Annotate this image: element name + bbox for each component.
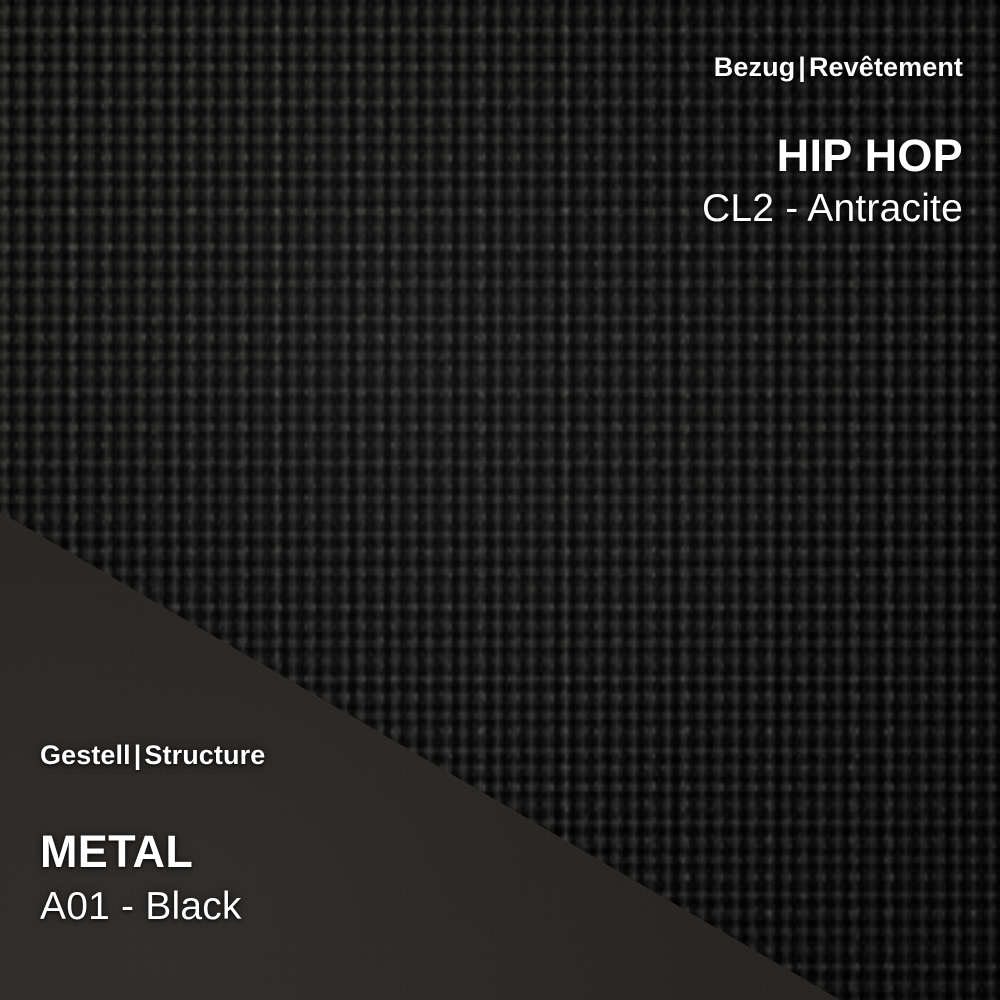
frame-category-label: Gestell|Structure <box>40 740 265 771</box>
upholstery-category-label-de: Bezug <box>714 52 796 82</box>
upholstery-category-label-fr: Revêtement <box>809 52 963 82</box>
upholstery-material-name: HIP HOP <box>702 131 963 181</box>
upholstery-category-label: Bezug|Revêtement <box>702 52 963 83</box>
upholstery-label-separator: | <box>795 52 809 82</box>
frame-material-code: A01 - Black <box>40 885 265 930</box>
frame-label-block: Gestell|Structure METAL A01 - Black <box>40 740 265 929</box>
upholstery-material-code: CL2 - Antracite <box>702 187 963 232</box>
frame-material-name: METAL <box>40 827 265 877</box>
frame-category-label-de: Gestell <box>40 740 131 770</box>
material-swatch-image: Bezug|Revêtement HIP HOP CL2 - Antracite… <box>0 0 1000 1000</box>
frame-label-separator: | <box>131 740 145 770</box>
frame-category-label-fr: Structure <box>144 740 265 770</box>
upholstery-label-block: Bezug|Revêtement HIP HOP CL2 - Antracite <box>702 52 963 231</box>
